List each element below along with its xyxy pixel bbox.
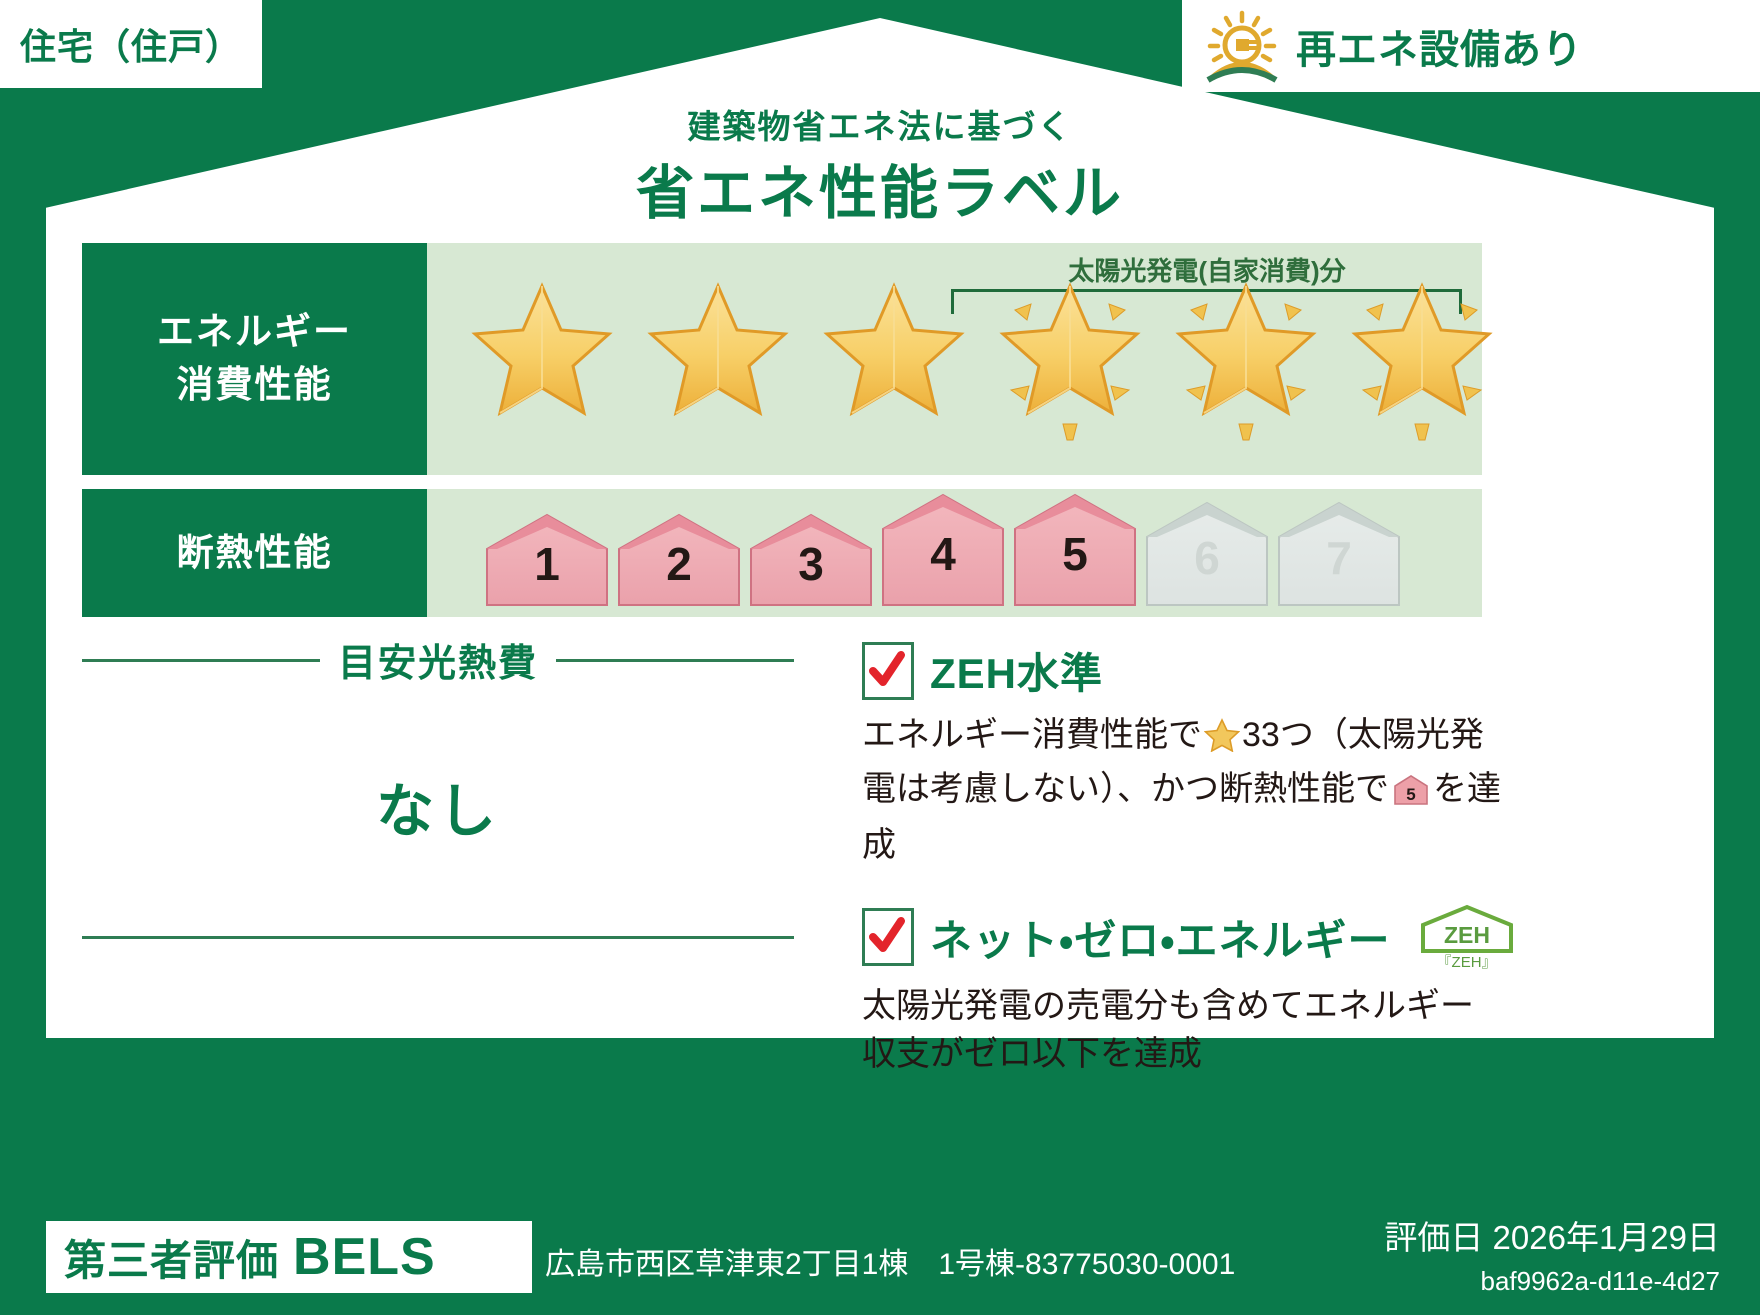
insulation-level-1: 1 [483, 511, 611, 609]
evaluation-date: 評価日 2026年1月29日 [1384, 1211, 1720, 1259]
renewable-badge: 再エネ設備あり [1182, 0, 1760, 92]
label-title: 省エネ性能ラベル [0, 146, 1760, 230]
zeh-logo-caption: 『ZEH』 [1437, 951, 1497, 972]
insulation-level-number: 6 [1143, 531, 1271, 585]
zeh-criteria-block: ZEH水準 エネルギー消費性能で 33つ（太陽光発電は考慮しない）、かつ断熱性能… [862, 640, 1502, 1078]
category-badge: 住宅（住戸） [0, 0, 262, 88]
insulation-level-6: 6 [1143, 499, 1271, 609]
star-1 [457, 274, 627, 444]
svg-text:5: 5 [1406, 785, 1415, 804]
energy-label-line2: 消費性能 [177, 359, 333, 412]
net-zero-energy-title: ネット・ゼロ・エネルギー [930, 907, 1391, 968]
insulation-level-number: 4 [879, 527, 1007, 581]
zeh-block-spacer [862, 869, 1502, 903]
label-uid: baf9962a-d11e-4d27 [1480, 1266, 1720, 1297]
net-zero-energy-checkbox [862, 908, 914, 966]
utility-cost-bottom-rule [82, 936, 794, 939]
insulation-level-4: 4 [879, 491, 1007, 609]
third-party-eval-label: 第三者評価 [64, 1227, 279, 1288]
energy-performance-body: 太陽光発電(自家消費)分 [427, 243, 1482, 475]
zeh-standard-checkbox [862, 642, 914, 700]
zeh-desc-pre: エネルギー消費性能で [862, 716, 1202, 754]
zeh-logo-icon: ZEH 『ZEH』 [1417, 903, 1517, 972]
bels-brand-label: BELS [293, 1227, 436, 1287]
energy-label-line1: エネルギー [157, 306, 352, 359]
renewable-badge-label: 再エネ設備あり [1296, 17, 1583, 75]
star-5 [1161, 274, 1331, 444]
inline-star-icon [1204, 717, 1240, 765]
heading-rule-right [556, 659, 794, 662]
zeh-standard-description: エネルギー消費性能で 33つ（太陽光発電は考慮しない）、かつ断熱性能で 5 を達… [862, 711, 1502, 869]
star-4 [985, 274, 1155, 444]
energy-performance-label: エネルギー 消費性能 [82, 243, 427, 475]
property-address: 広島市西区草津東2丁目1棟 1号棟-83775030-0001 [545, 1239, 1235, 1283]
utility-cost-block: 目安光熱費 なし [82, 636, 794, 939]
insulation-level-number: 7 [1275, 531, 1403, 585]
insulation-level-3: 3 [747, 511, 875, 609]
insulation-performance-label: 断熱性能 [82, 489, 427, 617]
insulation-level-number: 2 [615, 537, 743, 591]
energy-star-rating [457, 243, 1472, 475]
insulation-label-text: 断熱性能 [177, 527, 333, 580]
inline-house-level-icon: 5 [1393, 772, 1429, 820]
energy-performance-row: エネルギー 消費性能 太陽光発電(自家消費)分 [82, 243, 1482, 475]
insulation-level-number: 1 [483, 537, 611, 591]
insulation-performance-row: 断熱性能 1 [82, 489, 1482, 617]
heading-rule-left [82, 659, 320, 662]
net-zero-energy-row: ネット・ゼロ・エネルギー ZEH 『ZEH』 [862, 903, 1502, 972]
bels-energy-label: 住宅（住戸） [0, 0, 1760, 1315]
insulation-level-number: 5 [1011, 527, 1139, 581]
zeh-standard-row: ZEH水準 [862, 640, 1502, 701]
utility-cost-heading: 目安光熱費 [82, 636, 794, 682]
label-subtitle: 建築物省エネ法に基づく [0, 100, 1760, 148]
insulation-level-number: 3 [747, 537, 875, 591]
star-3 [809, 274, 979, 444]
insulation-level-scale: 1 2 3 [483, 489, 1482, 617]
zeh-star-count: 3 [1242, 716, 1261, 754]
net-zero-energy-description: 太陽光発電の売電分も含めてエネルギー収支がゼロ以下を達成 [862, 982, 1502, 1079]
insulation-level-2: 2 [615, 511, 743, 609]
category-badge-label: 住宅（住戸） [20, 18, 242, 70]
utility-cost-heading-text: 目安光熱費 [322, 632, 554, 687]
solar-plug-icon [1200, 8, 1284, 84]
star-6 [1337, 274, 1507, 444]
insulation-level-5: 5 [1011, 491, 1139, 609]
zeh-standard-title: ZEH水準 [930, 640, 1103, 701]
bels-footer-badge: 第三者評価 BELS [46, 1221, 532, 1293]
insulation-performance-body: 1 2 3 [427, 489, 1482, 617]
svg-text:ZEH: ZEH [1444, 922, 1490, 948]
utility-cost-value: なし [82, 764, 794, 848]
star-2 [633, 274, 803, 444]
insulation-level-7: 7 [1275, 499, 1403, 609]
